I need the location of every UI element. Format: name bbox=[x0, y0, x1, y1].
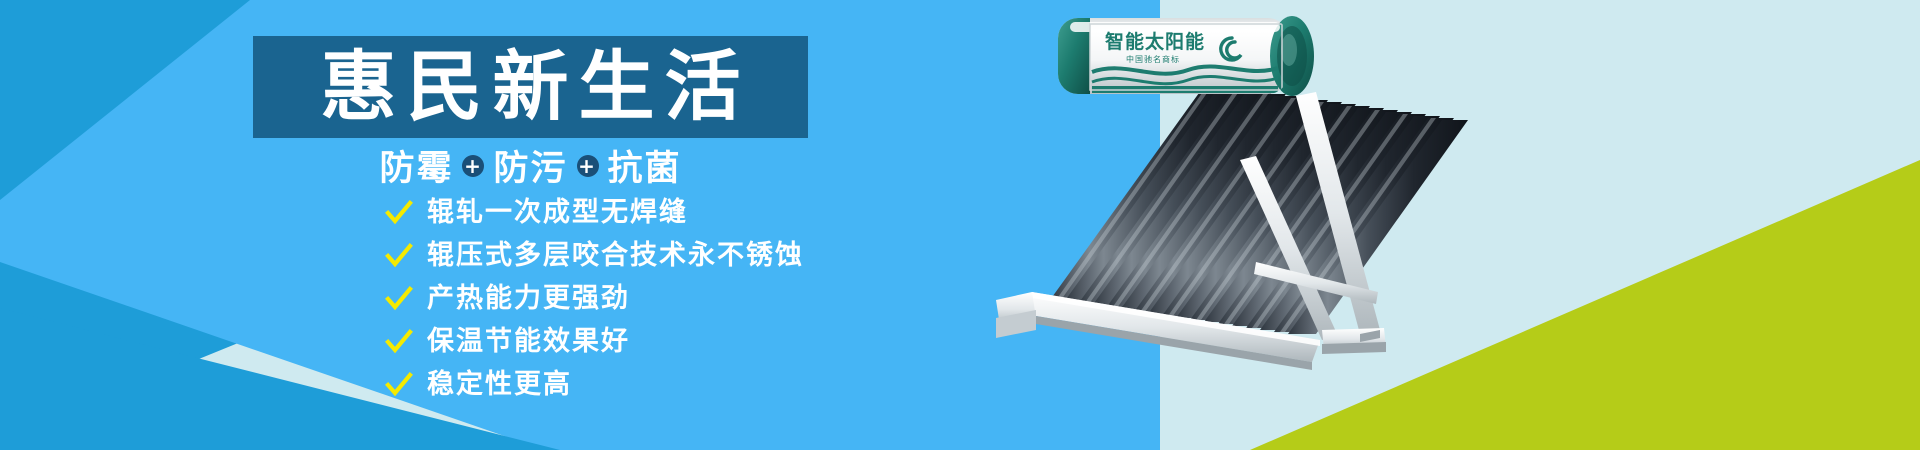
plus-icon: + bbox=[462, 155, 484, 177]
feature-label: 产热能力更强劲 bbox=[427, 285, 630, 312]
check-icon bbox=[385, 199, 413, 227]
feature-label: 稳定性更高 bbox=[427, 371, 572, 398]
subtitle-part-3: 抗菌 bbox=[608, 140, 682, 191]
svg-text:智能太阳能: 智能太阳能 bbox=[1105, 30, 1205, 53]
list-item: 辊压式多层咬合技术永不锈蚀 bbox=[385, 238, 804, 273]
page-title: 惠民新生活 bbox=[311, 49, 751, 125]
list-item: 产热能力更强劲 bbox=[385, 281, 804, 316]
list-item: 保温节能效果好 bbox=[385, 324, 804, 359]
promo-banner: 惠民新生活 防霉 + 防污 + 抗菌 辊轧一次成型无焊缝 辊压式多层咬合技术永不… bbox=[0, 0, 1920, 450]
check-icon bbox=[385, 242, 413, 270]
vacuum-tube-array bbox=[1050, 86, 1468, 334]
list-item: 辊轧一次成型无焊缝 bbox=[385, 195, 804, 230]
check-icon bbox=[385, 328, 413, 356]
subtitle: 防霉 + 防污 + 抗菌 bbox=[253, 140, 808, 191]
feature-label: 辊轧一次成型无焊缝 bbox=[427, 199, 688, 226]
check-icon bbox=[385, 285, 413, 313]
feature-label: 保温节能效果好 bbox=[427, 328, 630, 355]
svg-text:中国驰名商标: 中国驰名商标 bbox=[1126, 54, 1180, 64]
plus-icon: + bbox=[577, 155, 599, 177]
subtitle-part-1: 防霉 bbox=[379, 140, 453, 191]
feature-list: 辊轧一次成型无焊缝 辊压式多层咬合技术永不锈蚀 产热能力更强劲 保温节能效果好 bbox=[385, 195, 804, 402]
list-item: 稳定性更高 bbox=[385, 367, 804, 402]
feature-label: 辊压式多层咬合技术永不锈蚀 bbox=[427, 242, 804, 269]
title-box: 惠民新生活 bbox=[253, 36, 808, 138]
solar-water-heater-image: 智能太阳能 中国驰名商标 bbox=[940, 0, 1560, 450]
water-tank: 智能太阳能 中国驰名商标 bbox=[1058, 16, 1314, 96]
check-icon bbox=[385, 371, 413, 399]
subtitle-part-2: 防污 bbox=[493, 140, 567, 191]
